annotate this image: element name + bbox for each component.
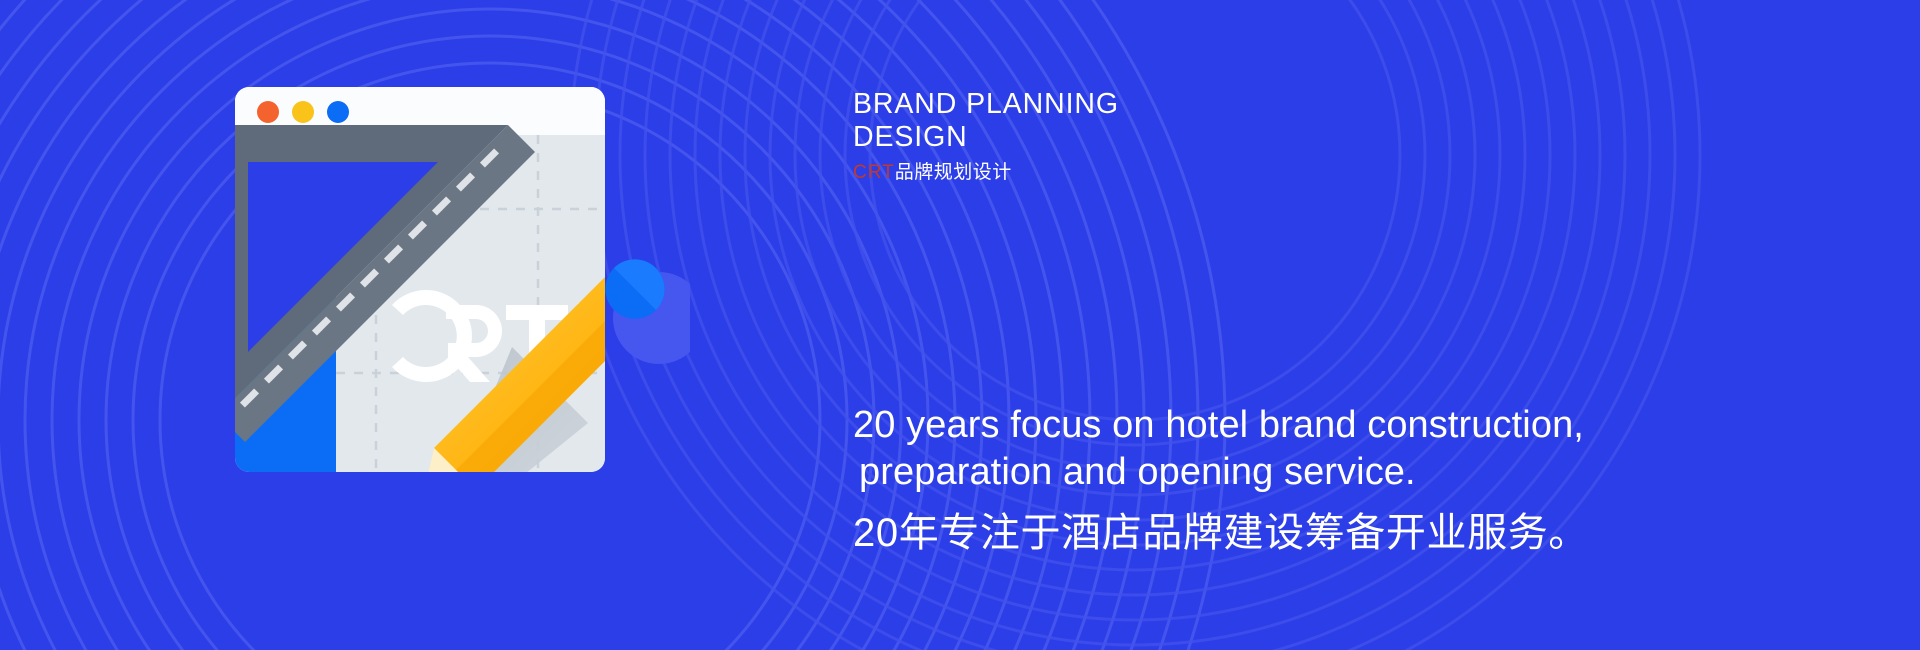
kicker-line-2: DESIGN bbox=[853, 121, 1613, 154]
headline-block: 20 years focus on hotel brand constructi… bbox=[853, 402, 1753, 558]
kicker-chinese: CRT品牌规划设计 bbox=[853, 161, 1613, 185]
maximize-dot bbox=[327, 101, 349, 123]
copy-column: BRAND PLANNING DESIGN CRT品牌规划设计 20 years… bbox=[853, 0, 1853, 650]
pencil-eraser bbox=[605, 259, 664, 318]
close-dot bbox=[257, 101, 279, 123]
brand-design-illustration bbox=[190, 70, 690, 590]
headline-chinese: 20年专注于酒店品牌建设筹备开业服务。 bbox=[853, 508, 1753, 558]
minimize-dot bbox=[292, 101, 314, 123]
headline-en-line-2: preparation and opening service. bbox=[853, 449, 1753, 496]
brand-name: CRT bbox=[853, 162, 895, 183]
headline-en-line-1: 20 years focus on hotel brand constructi… bbox=[853, 402, 1753, 449]
kicker-block: BRAND PLANNING DESIGN CRT品牌规划设计 bbox=[853, 88, 1613, 185]
kicker-line-1: BRAND PLANNING bbox=[853, 88, 1613, 121]
banner-root: BRAND PLANNING DESIGN CRT品牌规划设计 20 years… bbox=[0, 0, 1920, 650]
kicker-chinese-text: 品牌规划设计 bbox=[895, 162, 1012, 183]
